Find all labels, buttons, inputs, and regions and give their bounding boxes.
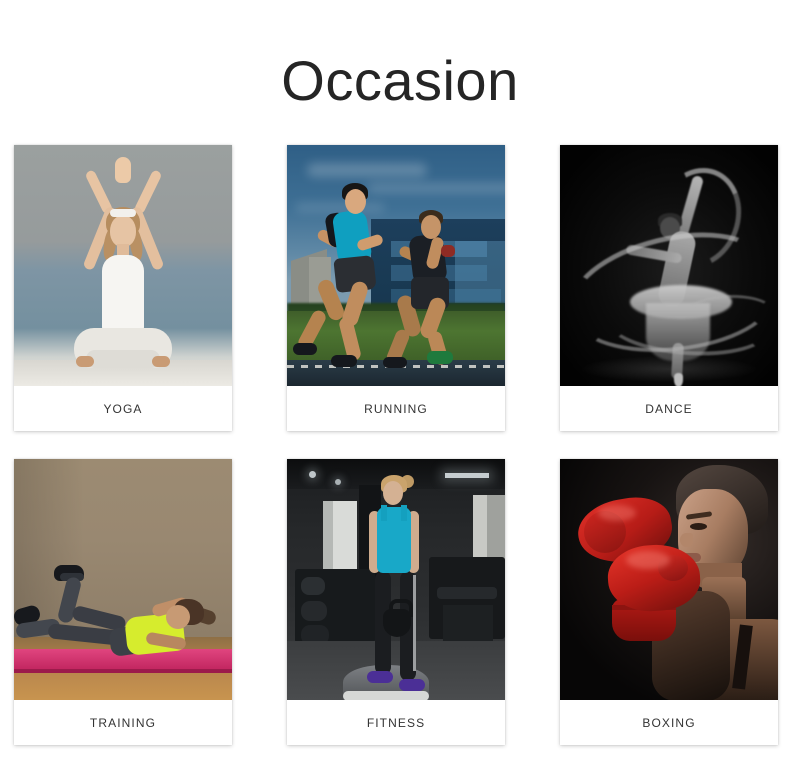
fitness-bosu-base-ring (343, 691, 429, 700)
training-mat-edge (14, 669, 232, 673)
occasion-card-dance[interactable]: DANCE (560, 145, 778, 431)
yoga-head (110, 215, 136, 247)
training-head (166, 605, 190, 629)
fitness-ceiling-light (445, 473, 489, 478)
dancer-pointe-shoe (674, 373, 683, 386)
training-photo[interactable] (14, 459, 232, 700)
yoga-hands (115, 157, 131, 183)
fitness-shoe-left (367, 671, 393, 683)
fitness-dumbbell (301, 601, 327, 621)
card-caption-fitness: FITNESS (287, 700, 505, 745)
card-caption-running: RUNNING (287, 386, 505, 431)
card-caption-dance: DANCE (560, 386, 778, 431)
boxing-photo[interactable] (560, 459, 778, 700)
running-cloud (307, 163, 427, 177)
boxer-nose (680, 533, 693, 547)
yoga-photo[interactable] (14, 145, 232, 386)
fitness-legging-stripe (413, 575, 416, 671)
card-caption-yoga: YOGA (14, 386, 232, 431)
fitness-ceiling-light (335, 479, 341, 485)
card-label: RUNNING (364, 402, 428, 416)
fitness-head (383, 481, 403, 505)
runner-one-head (345, 189, 366, 214)
card-caption-boxing: BOXING (560, 700, 778, 745)
yoga-foot-left (76, 356, 94, 367)
dance-photo[interactable] (560, 145, 778, 386)
fitness-dumbbell (301, 577, 325, 595)
yoga-foot-right (152, 356, 170, 367)
fitness-shoe-right (399, 679, 425, 691)
card-label: BOXING (642, 716, 695, 730)
boxing-glove-upper-highlight (598, 505, 636, 521)
fitness-photo[interactable] (287, 459, 505, 700)
occasion-card-training[interactable]: TRAINING (14, 459, 232, 745)
occasion-card-fitness[interactable]: FITNESS (287, 459, 505, 745)
fitness-tank-strap (401, 505, 407, 521)
card-label: FITNESS (367, 716, 425, 730)
fitness-doorway-shade (323, 501, 333, 579)
card-caption-training: TRAINING (14, 700, 232, 745)
fitness-bench-base (443, 605, 493, 641)
card-label: DANCE (645, 402, 693, 416)
occasion-page: Occasion (0, 0, 800, 770)
occasion-card-grid: YOGA (14, 145, 786, 745)
card-label: YOGA (103, 402, 142, 416)
runner-one-back-shoe (293, 343, 317, 355)
fitness-kettlebell (383, 609, 411, 637)
runner-one-shoe (331, 355, 357, 367)
page-title: Occasion (0, 48, 800, 114)
occasion-card-boxing[interactable]: BOXING (560, 459, 778, 745)
fitness-ceiling-light (309, 471, 316, 478)
occasion-card-running[interactable]: RUNNING (287, 145, 505, 431)
running-photo[interactable] (287, 145, 505, 386)
running-cloud (367, 183, 505, 193)
runner-back-shoe (383, 357, 407, 368)
fitness-tank-strap (381, 505, 387, 521)
fitness-bench-top (437, 587, 497, 599)
running-cloud (295, 203, 385, 212)
yoga-headband (110, 209, 136, 217)
boxing-glove-lower-highlight (626, 551, 670, 569)
runner-two-shoe (427, 351, 453, 364)
yoga-torso (102, 255, 144, 339)
runner-two-head (421, 215, 441, 239)
card-label: TRAINING (90, 716, 156, 730)
yoga-shins (86, 350, 160, 368)
occasion-card-yoga[interactable]: YOGA (14, 145, 232, 431)
boxer-eye (690, 523, 707, 530)
runner-two-hand (441, 245, 455, 257)
